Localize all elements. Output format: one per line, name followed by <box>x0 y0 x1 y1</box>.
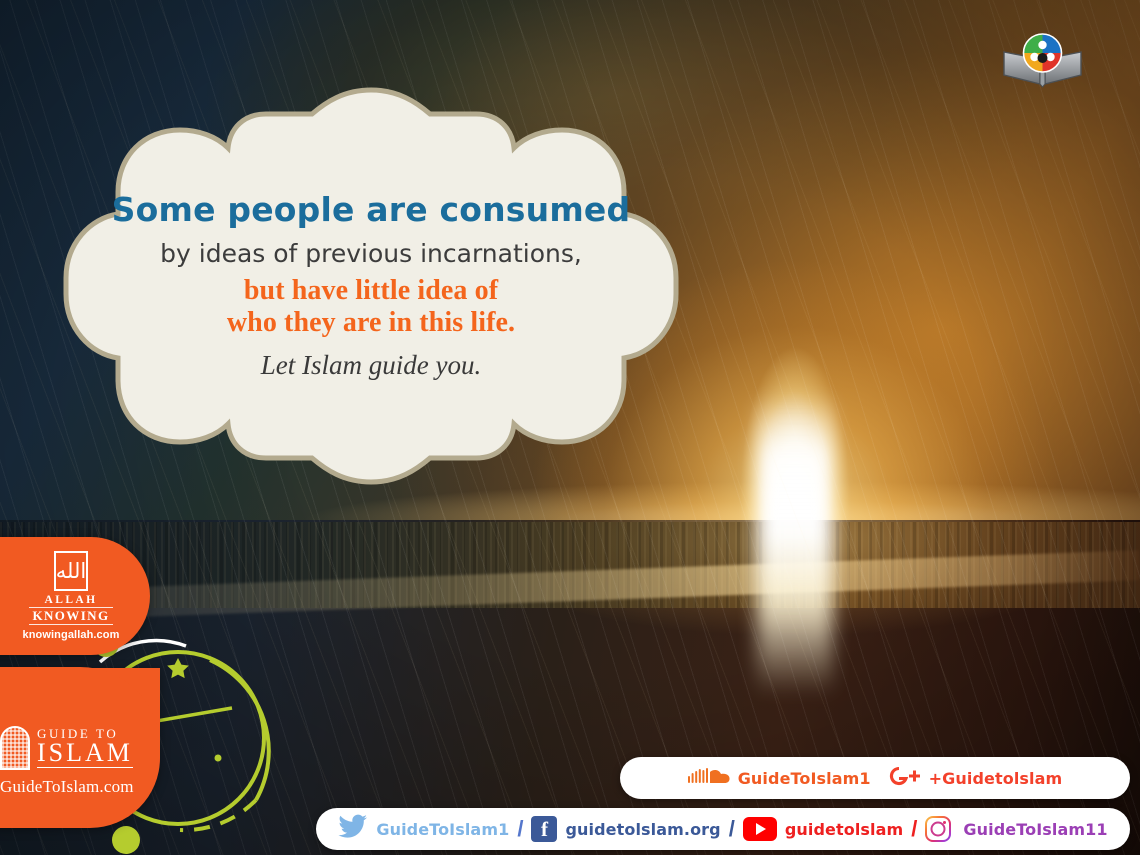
social-link-twitter[interactable]: GuideToIslam1 <box>338 814 509 845</box>
badge-knowing-website: knowingallah.com <box>23 629 120 641</box>
facebook-icon: f <box>531 816 557 842</box>
poster-canvas: Some people are consumed by ideas of pre… <box>0 0 1140 855</box>
facebook-label: guidetolslam.org <box>565 820 720 839</box>
quote-line-1: Some people are consumed <box>112 191 631 230</box>
separator-3: / <box>911 816 917 842</box>
badge-guide-title-main: ISLAM <box>37 740 133 768</box>
quote-line-3: but have little idea of <box>244 275 498 307</box>
badge-guide-website: GuideToIslam.com <box>0 777 134 797</box>
quote-line-4: who they are in this life. <box>227 307 515 339</box>
instagram-icon <box>925 816 951 842</box>
allah-calligraphy-glyph: الله <box>56 561 86 582</box>
badge-allah-knowing[interactable]: الله ALLAH KNOWING knowingallah.com <box>0 537 150 655</box>
badge-knowing-title-top: ALLAH <box>45 594 98 606</box>
social-bar-bottom: GuideToIslam1 / f guidetolslam.org / gui… <box>316 808 1130 850</box>
social-link-youtube[interactable]: guidetolslam <box>743 817 903 841</box>
quote-card: Some people are consumed by ideas of pre… <box>46 86 696 486</box>
quote-line-5: Let Islam guide you. <box>261 350 481 381</box>
mihrab-arch-icon <box>0 726 30 770</box>
twitter-icon <box>338 814 368 845</box>
social-link-soundcloud[interactable]: GuideToIslam1 <box>688 766 871 791</box>
badge-guide-to-islam[interactable]: GUIDE TO ISLAM GuideToIslam.com <box>0 668 160 828</box>
social-link-instagram[interactable]: GuideToIslam11 <box>925 816 1107 842</box>
social-link-facebook[interactable]: f guidetolslam.org <box>531 816 720 842</box>
open-book-globe-logo <box>1000 26 1085 88</box>
soundcloud-icon <box>688 766 730 791</box>
instagram-label: GuideToIslam11 <box>963 820 1107 839</box>
badge-knowing-title-bottom: KNOWING <box>29 607 114 625</box>
quote-line-2: by ideas of previous incarnations, <box>160 239 582 269</box>
twitter-label: GuideToIslam1 <box>376 820 509 839</box>
googleplus-label: +Guidetolslam <box>929 769 1063 788</box>
social-bar-top: GuideToIslam1 +Guidetolslam <box>620 757 1130 799</box>
soundcloud-label: GuideToIslam1 <box>738 769 871 788</box>
separator-1: / <box>517 816 523 842</box>
google-plus-icon <box>887 764 921 793</box>
social-link-googleplus[interactable]: +Guidetolslam <box>887 764 1063 793</box>
separator-2: / <box>729 816 735 842</box>
youtube-label: guidetolslam <box>785 820 903 839</box>
allah-calligraphy-icon: الله <box>54 551 88 591</box>
youtube-icon <box>743 817 777 841</box>
